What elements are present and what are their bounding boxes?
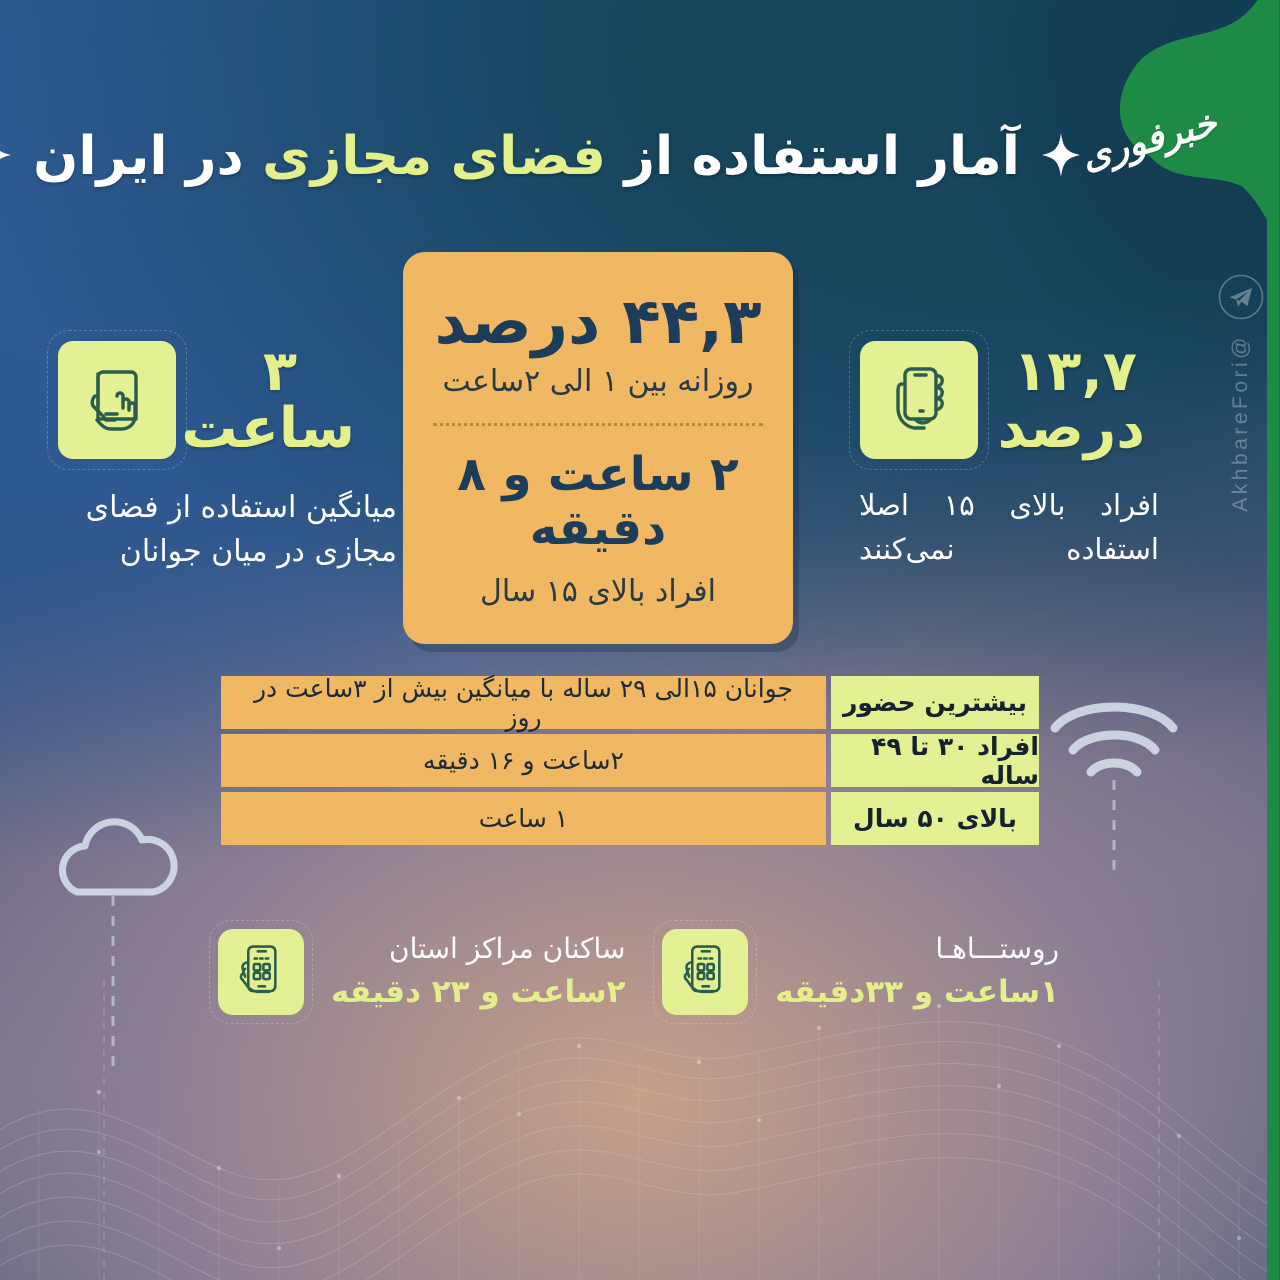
stat-right-description: افراد بالای ۱۵ اصلا استفاده نمی‌کنند	[860, 484, 1160, 571]
stat-left-youth: ۳ ساعت میانگین استفاده از فضای مجازی در …	[48, 330, 398, 573]
page-title-row: آمار استفاده از فضای مجازی در ایران	[0, 126, 1055, 187]
title-highlight: فضای مجازی	[263, 126, 607, 187]
stat-right-number: ۱۳,۷	[1006, 343, 1146, 400]
phone-apps-in-hand-tile	[210, 920, 314, 1024]
stat-left-value: ۳ ساعت	[206, 343, 356, 457]
title-suffix: در ایران	[34, 126, 263, 187]
hand-tapping-phone-icon	[59, 341, 177, 459]
hand-tapping-phone-tile	[48, 330, 188, 470]
phone-apps-in-hand-icon	[219, 929, 305, 1015]
watermark: @AkhbareFori	[1212, 274, 1272, 512]
stat-right-unit: درصد	[1006, 400, 1146, 457]
stat-left-number: ۳	[206, 343, 356, 400]
table-row: افراد ۳۰ تا ۴۹ ساله ۲ساعت و ۱۶ دقیقه	[222, 734, 1040, 787]
location-title: روستـــاهـا	[776, 930, 1060, 968]
stat-right-value: ۱۳,۷ درصد	[1006, 343, 1146, 457]
center-headline: ۴۴,۳ درصد	[430, 287, 768, 356]
phone-apps-in-hand-tile	[654, 920, 758, 1024]
center-headline-2: ۲ ساعت و ۸ دقیقه	[430, 448, 768, 556]
center-subline: روزانه بین ۱ الی ۲ساعت	[430, 364, 768, 399]
center-stat-card: ۴۴,۳ درصد روزانه بین ۱ الی ۲ساعت ۲ ساعت …	[404, 252, 794, 644]
stat-right-nonusers: ۱۳,۷ درصد افراد بالای ۱۵ اصلا استفاده نم…	[850, 330, 1160, 571]
page-title: آمار استفاده از فضای مجازی در ایران	[34, 126, 1021, 187]
cloud-icon	[40, 810, 200, 1070]
watermark-handle: @AkhbareFori	[1230, 334, 1254, 512]
table-row-value: جوانان ۱۵الی ۲۹ ساله با میانگین بیش از ۳…	[222, 676, 827, 729]
location-value: ۱ساعت و ۳۳دقیقه	[776, 972, 1060, 1014]
location-cell-rural: روستـــاهـا ۱ساعت و ۳۳دقیقه	[654, 920, 1060, 1024]
telegram-plane-icon	[1219, 274, 1265, 320]
location-cell-province: ساکنان مراکز استان ۲ساعت و ۲۳ دقیقه	[210, 920, 627, 1024]
title-prefix: آمار استفاده از	[607, 126, 1021, 187]
table-row-value: ۱ ساعت	[222, 792, 827, 845]
table-row: بیشترین حضور جوانان ۱۵الی ۲۹ ساله با میا…	[222, 676, 1040, 729]
location-value: ۲ساعت و ۲۳ دقیقه	[332, 972, 627, 1014]
stat-right-desc-line1: افراد بالای ۱۵ اصلا	[860, 484, 1160, 528]
table-row: بالای ۵۰ سال ۱ ساعت	[222, 792, 1040, 845]
phone-apps-in-hand-icon	[663, 929, 749, 1015]
center-divider	[434, 423, 764, 426]
stat-right-desc-line2: استفاده نمی‌کنند	[860, 528, 1160, 572]
center-subline-2: افراد بالای ۱۵ سال	[430, 574, 768, 609]
hand-holding-phone-tile	[850, 330, 990, 470]
location-title: ساکنان مراکز استان	[332, 930, 627, 968]
sparkle-icon	[0, 133, 12, 181]
hand-holding-phone-icon	[861, 341, 979, 459]
age-usage-table: بیشترین حضور جوانان ۱۵الی ۲۹ ساله با میا…	[222, 676, 1040, 845]
location-usage-row: ساکنان مراکز استان ۲ساعت و ۲۳ دقیقه	[210, 920, 1060, 1024]
table-row-label: بالای ۵۰ سال	[832, 792, 1040, 845]
table-row-value: ۲ساعت و ۱۶ دقیقه	[222, 734, 827, 787]
sparkle-icon	[1043, 133, 1081, 181]
stat-left-description: میانگین استفاده از فضای مجازی در میان جو…	[50, 486, 398, 573]
table-row-label: بیشترین حضور	[832, 676, 1040, 729]
stat-left-unit: ساعت	[206, 400, 356, 457]
wifi-signal-icon	[1040, 650, 1190, 880]
table-row-label: افراد ۳۰ تا ۴۹ ساله	[832, 734, 1040, 787]
